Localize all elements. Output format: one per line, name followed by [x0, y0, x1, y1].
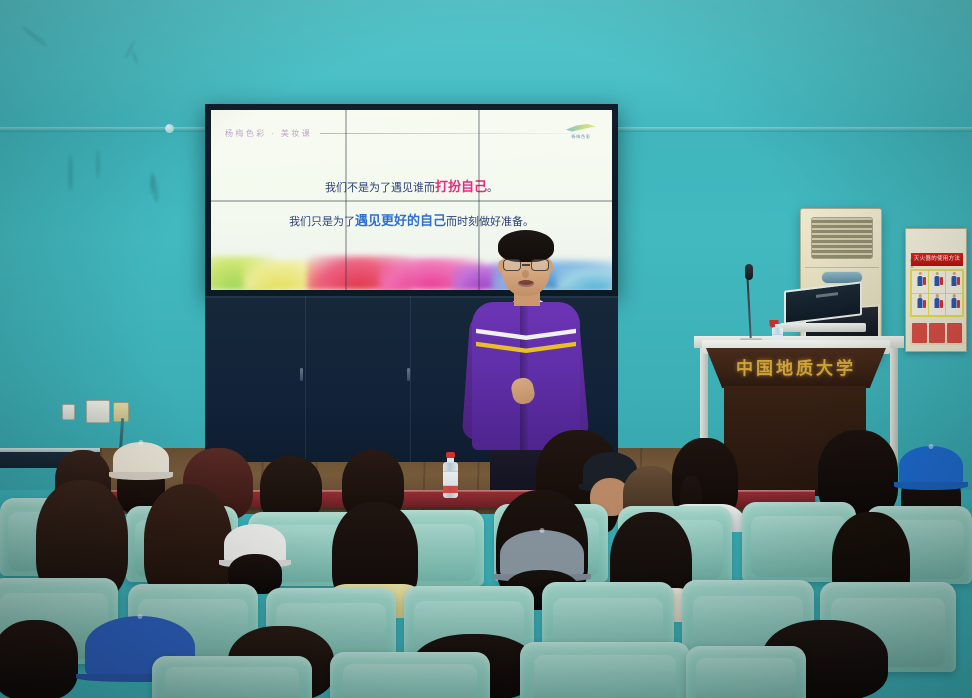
auditorium-seat[interactable] — [520, 642, 690, 698]
slide-line-2-suffix: 而时刻做好准备。 — [446, 215, 534, 228]
ledge-fixture — [165, 124, 174, 133]
cabinet-handle[interactable] — [300, 368, 303, 381]
slide-line-1-prefix: 我们不是为了遇见谁而 — [325, 181, 435, 194]
slide-rule — [320, 133, 598, 134]
microphone-stem — [746, 270, 752, 344]
eyeglasses-icon — [503, 259, 549, 271]
power-outlet[interactable] — [62, 404, 75, 420]
slide-line-2-highlight: 遇见更好的自己 — [355, 214, 446, 229]
lecture-hall-photo: 杨梅色彩 · 美妆课 杨梅色彩 我们不是为了遇见谁而打扮自己。 我们只是为了遇见… — [0, 0, 972, 698]
presenter-mouth — [518, 280, 534, 287]
slide-line-1: 我们不是为了遇见谁而打扮自己。 — [211, 176, 612, 195]
slide-header: 杨梅色彩 · 美妆课 — [225, 123, 598, 143]
poster-step — [946, 294, 962, 316]
monitor-base — [780, 323, 866, 332]
wall-scuff — [68, 155, 73, 191]
auditorium-seat[interactable] — [330, 652, 490, 698]
poster-footer — [910, 321, 964, 345]
logo-text: 杨梅色彩 — [571, 134, 591, 140]
slide-kicker: 杨梅色彩 · 美妆课 — [225, 128, 312, 139]
podium-front-panel — [706, 348, 886, 388]
auditorium-seat[interactable] — [686, 646, 806, 698]
audience — [0, 420, 972, 698]
wall-scuff — [96, 150, 100, 178]
brand-logo: 杨梅色彩 — [560, 120, 602, 144]
poster-step — [929, 294, 945, 316]
blue-cap-right — [899, 446, 963, 486]
cabinet-handle[interactable] — [407, 368, 410, 381]
poster-step — [929, 271, 945, 293]
slide-line-1-suffix: 。 — [487, 181, 498, 194]
auditorium-seat[interactable] — [152, 656, 312, 698]
safety-poster: 安全须知 灭火器的使用方法 — [905, 228, 967, 352]
poster-instruction-grid — [910, 269, 964, 317]
poster-step — [946, 271, 962, 293]
audience-member — [0, 620, 80, 698]
presenter-nose — [522, 270, 529, 278]
slide-line-2: 我们只是为了遇见更好的自己而时刻做好准备。 — [211, 210, 612, 229]
presenter-hair — [498, 230, 554, 262]
poster-title: 灭火器的使用方法 — [911, 253, 963, 266]
ac-grille — [811, 217, 873, 259]
poster-step — [912, 271, 928, 293]
cream-cap — [113, 442, 169, 476]
monitor-screen — [784, 281, 862, 325]
confidence-monitor — [780, 282, 866, 332]
swoosh-icon — [566, 124, 596, 132]
poster-step — [912, 294, 928, 316]
tile-seam — [211, 200, 612, 202]
microphone-icon — [745, 264, 753, 280]
